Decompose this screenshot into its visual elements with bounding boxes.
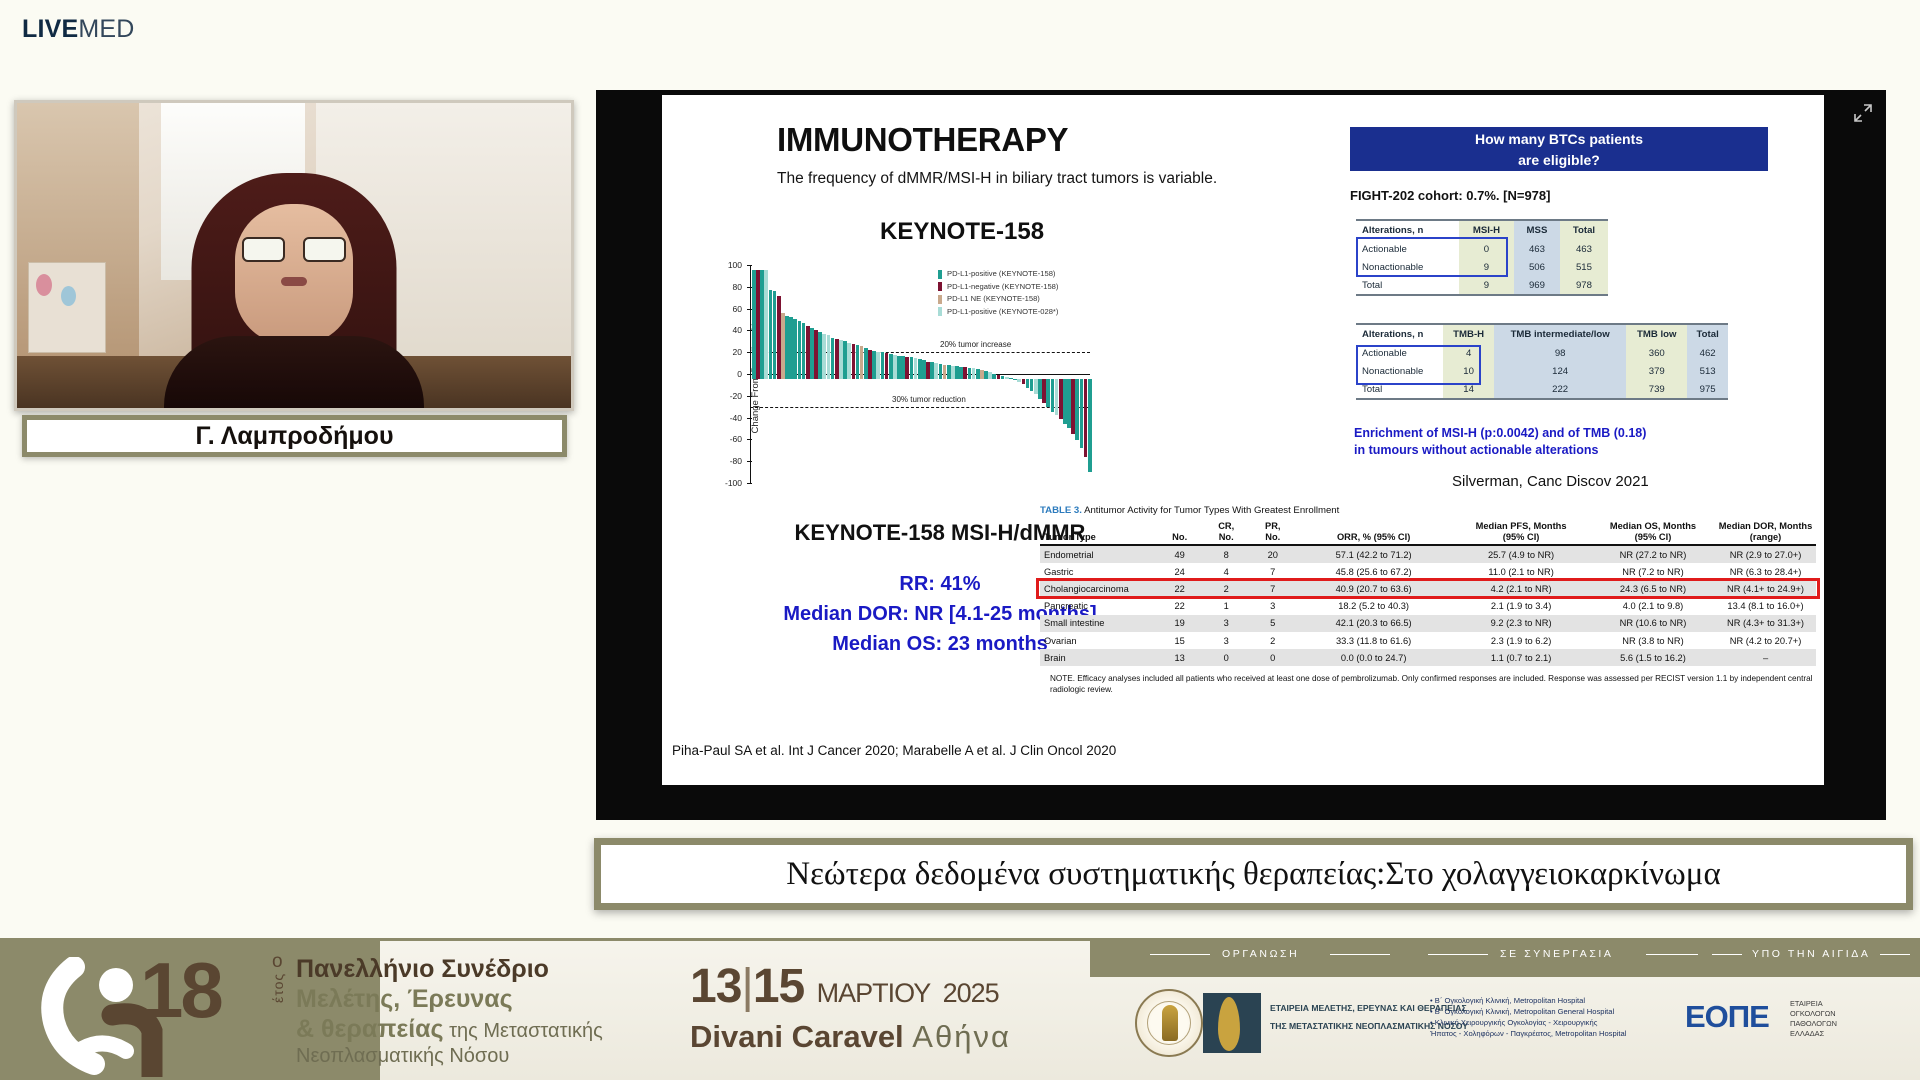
slide-content: IMMUNOTHERAPY The frequency of dMMR/MSI-… bbox=[662, 95, 1824, 785]
chart-bar bbox=[789, 317, 793, 379]
table-cell: 969 bbox=[1514, 276, 1560, 295]
chart-bar bbox=[926, 362, 930, 379]
banner-line-2: are eligible? bbox=[1350, 150, 1768, 171]
chart-bar bbox=[860, 346, 864, 379]
table-cell: 4.2 (2.1 to NR) bbox=[1451, 580, 1591, 597]
congress-line-2: Μελέτης, Έρευνας bbox=[296, 985, 513, 1014]
chart-bar bbox=[910, 357, 914, 379]
table-row: Ovarian153233.3 (11.8 to 61.6)2.3 (1.9 t… bbox=[1040, 632, 1816, 649]
speaker-name-plate: Γ. Λαμπροδήμου bbox=[22, 415, 567, 457]
table-cell: 98 bbox=[1494, 344, 1626, 362]
coop-line-2: • Β΄ Ογκολογική Κλινική, Metropolitan Ge… bbox=[1430, 1006, 1626, 1017]
table-header-cell: TMB intermediate/low bbox=[1494, 324, 1626, 344]
chart-bar bbox=[856, 345, 860, 379]
table-cell: NR (2.9 to 27.0+) bbox=[1715, 545, 1816, 563]
chart-bar bbox=[1013, 379, 1017, 380]
logo-bold: LIVE bbox=[22, 15, 78, 43]
chart-bar bbox=[1005, 377, 1009, 379]
table-cell: 2 bbox=[1249, 632, 1296, 649]
chart-y-tick: -80 bbox=[712, 456, 742, 466]
legend-swatch bbox=[938, 270, 942, 279]
table-cell: 57.1 (42.2 to 71.2) bbox=[1296, 545, 1451, 563]
chart-bar bbox=[976, 369, 980, 379]
chart-legend-item: PD-L1 NE (KEYNOTE-158) bbox=[938, 293, 1058, 306]
congress-line-3-bold: & θεραπείας bbox=[296, 1015, 444, 1043]
chart-bar bbox=[1046, 379, 1050, 407]
chart-bar bbox=[992, 374, 996, 379]
speaker-video[interactable] bbox=[14, 100, 574, 411]
table-cell: Ovarian bbox=[1040, 632, 1156, 649]
table-cell: 40.9 (20.7 to 63.6) bbox=[1296, 580, 1451, 597]
chart-bar bbox=[914, 358, 918, 379]
chart-y-tick: 0 bbox=[712, 369, 742, 379]
cohort-text: FIGHT-202 cohort: 0.7%. [N=978] bbox=[1350, 188, 1550, 203]
expand-icon[interactable] bbox=[1854, 104, 1872, 122]
chart-bar bbox=[1001, 376, 1005, 379]
table-cell: 2 bbox=[1203, 580, 1250, 597]
table-cell: 463 bbox=[1514, 240, 1560, 258]
table-cell: 3 bbox=[1249, 598, 1296, 615]
table-cell: NR (10.6 to NR) bbox=[1591, 615, 1715, 632]
table3-block: TABLE 3. Antitumor Activity for Tumor Ty… bbox=[1040, 505, 1816, 695]
chart-bar bbox=[785, 316, 789, 379]
band-auspices: ΥΠΟ ΤΗΝ ΑΙΓΙΔΑ bbox=[1752, 948, 1870, 960]
slide-subtitle: The frequency of dMMR/MSI-H in biliary t… bbox=[777, 170, 1217, 188]
msi-highlight-box bbox=[1356, 237, 1508, 277]
table-header-cell: TMB low bbox=[1626, 324, 1687, 344]
congress-line-3: & θεραπείας της Μεταστατικής bbox=[296, 1015, 603, 1044]
chart-bar bbox=[951, 366, 955, 379]
eope-subtitle: ΕΤΑΙΡΕΙΑ ΟΓΚΟΛΟΓΩΝ ΠΑΘΟΛΟΓΩΝ ΕΛΛΑΔΑΣ bbox=[1790, 999, 1837, 1039]
coop-line-1: • Β΄ Ογκολογική Κλινική, Metropolitan Ho… bbox=[1430, 995, 1626, 1006]
table-cell: 515 bbox=[1560, 258, 1608, 276]
chart-bar bbox=[1017, 379, 1021, 382]
table-header-cell: Alterations, n bbox=[1356, 324, 1443, 344]
chart-bar bbox=[835, 339, 839, 379]
chart-bar bbox=[802, 323, 806, 379]
table-cell: 7 bbox=[1249, 563, 1296, 580]
venue-name: Divani Caravel bbox=[690, 1019, 904, 1054]
chart-bar bbox=[1009, 378, 1013, 379]
slide-stage: IMMUNOTHERAPY The frequency of dMMR/MSI-… bbox=[596, 90, 1886, 820]
table-cell: 49 bbox=[1156, 545, 1203, 563]
table-cell: 13 bbox=[1156, 649, 1203, 666]
chart-bar bbox=[839, 340, 843, 379]
legend-label: PD-L1-negative (KEYNOTE-158) bbox=[947, 281, 1058, 294]
edition-word: έτος bbox=[270, 973, 286, 1003]
chart-bar bbox=[822, 334, 826, 379]
table-cell: 18.2 (5.2 to 40.3) bbox=[1296, 598, 1451, 615]
chart-bar bbox=[764, 270, 768, 379]
speaker-mouth bbox=[281, 277, 307, 286]
chart-bar bbox=[893, 355, 897, 379]
table-cell: Pancreatic bbox=[1040, 598, 1156, 615]
table-cell: Small intestine bbox=[1040, 615, 1156, 632]
table-row: Cholangiocarcinoma222740.9 (20.7 to 63.6… bbox=[1040, 580, 1816, 597]
chart-bar bbox=[939, 364, 943, 379]
table-row: Endometrial4982057.1 (42.2 to 71.2)25.7 … bbox=[1040, 545, 1816, 563]
table-header-cell: Total bbox=[1687, 324, 1728, 344]
chart-legend: PD-L1-positive (KEYNOTE-158)PD-L1-negati… bbox=[938, 268, 1058, 318]
table-cell: 22 bbox=[1156, 580, 1203, 597]
eope-line-4: ΕΛΛΑΔΑΣ bbox=[1790, 1029, 1837, 1039]
table3-note: NOTE. Efficacy analyses included all pat… bbox=[1040, 673, 1816, 695]
table3-header-cell: Tumor Type bbox=[1040, 520, 1156, 545]
chart-y-tick: -20 bbox=[712, 391, 742, 401]
chart-y-tick: -100 bbox=[712, 478, 742, 488]
table-cell: 8 bbox=[1203, 545, 1250, 563]
legend-label: PD-L1 NE (KEYNOTE-158) bbox=[947, 293, 1040, 306]
chart-bar bbox=[901, 356, 905, 379]
chart-bar bbox=[1030, 379, 1034, 391]
table-row: Brain13000.0 (0.0 to 24.7)1.1 (0.7 to 2.… bbox=[1040, 649, 1816, 666]
speaker-name: Γ. Λαμπροδήμου bbox=[195, 422, 393, 451]
chart-bar bbox=[781, 313, 785, 379]
table3-header-cell: PR,No. bbox=[1249, 520, 1296, 545]
table-cell: 379 bbox=[1626, 362, 1687, 380]
eope-line-2: ΟΓΚΟΛΟΓΩΝ bbox=[1790, 1009, 1837, 1019]
table-cell: 19 bbox=[1156, 615, 1203, 632]
chart-bar bbox=[997, 375, 1001, 379]
chart-bar bbox=[968, 368, 972, 379]
chart-y-tick: 100 bbox=[712, 260, 742, 270]
chart-bar bbox=[1026, 379, 1030, 388]
table-cell: Brain bbox=[1040, 649, 1156, 666]
chart-bar bbox=[889, 354, 893, 379]
table3-header-cell: Median OS, Months(95% CI) bbox=[1591, 520, 1715, 545]
date-separator: | bbox=[741, 960, 752, 1013]
waterfall-chart: Change From Baseline, % 100806040200-20-… bbox=[702, 260, 1142, 505]
wheat-icon bbox=[1162, 1005, 1178, 1041]
chart-bar bbox=[1088, 379, 1092, 472]
edition-number: 18 bbox=[140, 951, 221, 1029]
coop-line-3: • Κλινική Χειρουργικής Ογκολογίας - Χειρ… bbox=[1430, 1017, 1626, 1028]
chart-bar bbox=[1059, 379, 1063, 419]
congress-line-4: Νεοπλασματικής Νόσου bbox=[296, 1045, 509, 1068]
chart-bar bbox=[984, 371, 988, 379]
chart-bar bbox=[872, 351, 876, 379]
date-month: ΜΑΡΤΙΟΥ bbox=[817, 978, 931, 1008]
legend-swatch bbox=[938, 295, 942, 304]
table-row: Total9969978 bbox=[1356, 276, 1608, 295]
chart-bar bbox=[1055, 379, 1059, 415]
congress-dates: 13|15 ΜΑΡΤΙΟΥ 2025 bbox=[690, 959, 999, 1014]
table-cell: Gastric bbox=[1040, 563, 1156, 580]
table-cell: 24 bbox=[1156, 563, 1203, 580]
congress-line-3-rest: της Μεταστατικής bbox=[444, 1020, 603, 1042]
chart-bar bbox=[756, 270, 760, 379]
table-cell: 42.1 (20.3 to 66.5) bbox=[1296, 615, 1451, 632]
band-cooperation: ΣΕ ΣΥΝΕΡΓΑΣΙΑ bbox=[1500, 948, 1614, 960]
table-cell: 222 bbox=[1494, 380, 1626, 399]
table-cell: NR (3.8 to NR) bbox=[1591, 632, 1715, 649]
congress-line-1: Πανελλήνιο Συνέδριο bbox=[296, 955, 549, 984]
table-cell: 1.1 (0.7 to 2.1) bbox=[1451, 649, 1591, 666]
table-cell: 24.3 (6.5 to NR) bbox=[1591, 580, 1715, 597]
eope-line-3: ΠΑΘΟΛΟΓΩΝ bbox=[1790, 1019, 1837, 1029]
table-cell: 4 bbox=[1203, 563, 1250, 580]
chart-bar bbox=[843, 341, 847, 379]
date-to: 15 bbox=[753, 960, 804, 1013]
conference-footer: 18 o έτος Πανελλήνιο Συνέδριο Μελέτης, Έ… bbox=[0, 938, 1920, 1080]
slide-citation: Piha-Paul SA et al. Int J Cancer 2020; M… bbox=[672, 743, 1116, 758]
speaker-body bbox=[164, 336, 424, 408]
table-header-cell: Total bbox=[1560, 220, 1608, 240]
logo-light: MED bbox=[78, 15, 134, 43]
table-cell: NR (6.3 to 28.4+) bbox=[1715, 563, 1816, 580]
table-cell: 25.7 (4.9 to NR) bbox=[1451, 545, 1591, 563]
session-title-band: Νεώτερα δεδομένα συστηματικής θεραπείας:… bbox=[594, 838, 1913, 910]
chart-bar bbox=[943, 365, 947, 379]
table-cell: 2.1 (1.9 to 3.4) bbox=[1451, 598, 1591, 615]
chart-bar bbox=[1063, 379, 1067, 424]
chart-y-tick: -60 bbox=[712, 434, 742, 444]
chart-bar bbox=[922, 360, 926, 379]
chart-bar bbox=[897, 356, 901, 379]
coop-line-4: Ήπατος - Χοληφόρων - Παγκρέατος, Metropo… bbox=[1430, 1028, 1626, 1039]
chart-bar bbox=[963, 367, 967, 379]
table-cell: 3 bbox=[1203, 632, 1250, 649]
chart-y-tick: 40 bbox=[712, 325, 742, 335]
eope-line-1: ΕΤΑΙΡΕΙΑ bbox=[1790, 999, 1837, 1009]
chart-bar bbox=[852, 344, 856, 379]
table-cell: 22 bbox=[1156, 598, 1203, 615]
chart-bar bbox=[1022, 379, 1026, 384]
banner-line-1: How many BTCs patients bbox=[1350, 129, 1768, 150]
table-cell: 5 bbox=[1249, 615, 1296, 632]
table-header-cell: TMB-H bbox=[1443, 324, 1494, 344]
table-cell: 513 bbox=[1687, 362, 1728, 380]
chart-y-tick: 80 bbox=[712, 282, 742, 292]
chart-bar bbox=[955, 366, 959, 379]
keynote-heading: KEYNOTE-158 bbox=[880, 218, 1044, 246]
chart-bar bbox=[810, 328, 814, 379]
chart-bar bbox=[777, 296, 781, 379]
tmb-highlight-box bbox=[1356, 345, 1481, 385]
chart-bar bbox=[847, 343, 851, 379]
chart-bar bbox=[1051, 379, 1055, 412]
table-cell: Endometrial bbox=[1040, 545, 1156, 563]
chart-bar bbox=[988, 372, 992, 379]
table3: Tumor TypeNo.CR,No.PR,No.ORR, % (95% CI)… bbox=[1040, 520, 1816, 666]
table-cell: 0.0 (0.0 to 24.7) bbox=[1296, 649, 1451, 666]
slide-title: IMMUNOTHERAPY bbox=[777, 121, 1068, 159]
table-cell: Total bbox=[1356, 276, 1459, 295]
chart-legend-item: PD-L1-positive (KEYNOTE-028*) bbox=[938, 306, 1058, 319]
table3-caption: TABLE 3. Antitumor Activity for Tumor Ty… bbox=[1040, 505, 1816, 516]
table3-header-cell: No. bbox=[1156, 520, 1203, 545]
chart-legend-item: PD-L1-positive (KEYNOTE-158) bbox=[938, 268, 1058, 281]
table-cell: 7 bbox=[1249, 580, 1296, 597]
table-row: Small intestine193542.1 (20.3 to 66.5)9.… bbox=[1040, 615, 1816, 632]
table-cell: NR (4.3+ to 31.3+) bbox=[1715, 615, 1816, 632]
chart-bar bbox=[881, 352, 885, 379]
table-cell: 506 bbox=[1514, 258, 1560, 276]
chart-bar bbox=[793, 319, 797, 379]
table-cell: 5.6 (1.5 to 16.2) bbox=[1591, 649, 1715, 666]
chart-legend-item: PD-L1-negative (KEYNOTE-158) bbox=[938, 281, 1058, 294]
cooperation-list: • Β΄ Ογκολογική Κλινική, Metropolitan Ho… bbox=[1430, 995, 1626, 1039]
edition-ordinal: o bbox=[272, 951, 283, 973]
table-cell: 4.0 (2.1 to 9.8) bbox=[1591, 598, 1715, 615]
chart-bar bbox=[818, 332, 822, 379]
chart-y-tick: 20 bbox=[712, 347, 742, 357]
table-cell: NR (4.2 to 20.7+) bbox=[1715, 632, 1816, 649]
chart-bar bbox=[876, 352, 880, 379]
presentation-viewer: LIVEMED Γ. Λαμπροδήμου IMMUNOTHERAPY Th bbox=[0, 0, 1920, 1080]
table-cell: 739 bbox=[1626, 380, 1687, 399]
table-cell: 33.3 (11.8 to 61.6) bbox=[1296, 632, 1451, 649]
chart-bar bbox=[1071, 379, 1075, 434]
chart-bar bbox=[1034, 379, 1038, 394]
panel-source: Silverman, Canc Discov 2021 bbox=[1452, 473, 1649, 490]
table3-header-cell: Median DOR, Months(range) bbox=[1715, 520, 1816, 545]
chart-bar bbox=[806, 326, 810, 379]
chart-bar bbox=[980, 370, 984, 379]
chart-bar bbox=[918, 359, 922, 379]
table-cell: 3 bbox=[1203, 615, 1250, 632]
table-cell: 9 bbox=[1459, 276, 1514, 295]
eligibility-banner: How many BTCs patients are eligible? bbox=[1350, 127, 1768, 171]
chart-bar bbox=[1038, 379, 1042, 399]
chart-bar bbox=[934, 363, 938, 379]
table3-caption-rest: Antitumor Activity for Tumor Types With … bbox=[1082, 505, 1339, 516]
livemed-logo: LIVEMED bbox=[22, 15, 135, 44]
chart-bar bbox=[1080, 379, 1084, 448]
table-cell: Cholangiocarcinoma bbox=[1040, 580, 1156, 597]
chart-bar bbox=[864, 348, 868, 379]
table3-header-cell: Median PFS, Months(95% CI) bbox=[1451, 520, 1591, 545]
table-cell: 13.4 (8.1 to 16.0+) bbox=[1715, 598, 1816, 615]
table-cell: 360 bbox=[1626, 344, 1687, 362]
table3-header-cell: ORR, % (95% CI) bbox=[1296, 520, 1451, 545]
chart-bar bbox=[972, 368, 976, 379]
session-title: Νεώτερα δεδομένα συστηματικής θεραπείας:… bbox=[786, 856, 1721, 893]
chart-bar bbox=[752, 270, 756, 379]
chart-bar bbox=[798, 321, 802, 379]
table-row: Pancreatic221318.2 (5.2 to 40.3)2.1 (1.9… bbox=[1040, 598, 1816, 615]
enrichment-line-1: Enrichment of MSI-H (p:0.0042) and of TM… bbox=[1354, 425, 1646, 442]
legend-label: PD-L1-positive (KEYNOTE-028*) bbox=[947, 306, 1058, 319]
table-cell: 0 bbox=[1249, 649, 1296, 666]
table-header-cell: MSS bbox=[1514, 220, 1560, 240]
enrichment-note: Enrichment of MSI-H (p:0.0042) and of TM… bbox=[1354, 425, 1646, 459]
venue-city: Αθήνα bbox=[912, 1019, 1011, 1054]
chart-bar bbox=[827, 335, 831, 379]
table-cell: 0 bbox=[1203, 649, 1250, 666]
table-row: Gastric244745.8 (25.6 to 67.2)11.0 (2.1 … bbox=[1040, 563, 1816, 580]
eope-logo: ΕΟΠΕ bbox=[1685, 999, 1769, 1035]
chart-bar bbox=[905, 357, 909, 379]
table-cell: 463 bbox=[1560, 240, 1608, 258]
date-from: 13 bbox=[690, 960, 741, 1013]
chart-bar bbox=[760, 270, 764, 379]
band-organization: ΟΡΓΑΝΩΣΗ bbox=[1222, 948, 1299, 960]
table-cell: 11.0 (2.1 to NR) bbox=[1451, 563, 1591, 580]
chart-bar bbox=[1084, 379, 1088, 457]
table-cell: 1 bbox=[1203, 598, 1250, 615]
enrichment-line-2: in tumours without actionable alteration… bbox=[1354, 442, 1646, 459]
chart-y-tick: 60 bbox=[712, 304, 742, 314]
legend-swatch bbox=[938, 282, 942, 291]
chart-bar bbox=[1075, 379, 1079, 440]
chart-bar bbox=[930, 362, 934, 379]
table-cell: 20 bbox=[1249, 545, 1296, 563]
chart-bar bbox=[885, 353, 889, 379]
chart-bar bbox=[959, 367, 963, 379]
video-canvas bbox=[17, 103, 571, 408]
date-year: 2025 bbox=[943, 978, 999, 1008]
table-cell: 124 bbox=[1494, 362, 1626, 380]
chart-bar bbox=[773, 291, 777, 379]
table-cell: 9.2 (2.3 to NR) bbox=[1451, 615, 1591, 632]
chart-bar bbox=[868, 350, 872, 379]
table3-caption-bold: TABLE 3. bbox=[1040, 505, 1082, 516]
table3-header-cell: CR,No. bbox=[1203, 520, 1250, 545]
speaker-glasses bbox=[242, 237, 346, 262]
chart-bar bbox=[1067, 379, 1071, 428]
table-cell: NR (27.2 to NR) bbox=[1591, 545, 1715, 563]
legend-label: PD-L1-positive (KEYNOTE-158) bbox=[947, 268, 1055, 281]
table-cell: 975 bbox=[1687, 380, 1728, 399]
table-cell: 45.8 (25.6 to 67.2) bbox=[1296, 563, 1451, 580]
table-cell: 2.3 (1.9 to 6.2) bbox=[1451, 632, 1591, 649]
chart-bar bbox=[769, 290, 773, 379]
chart-bar bbox=[831, 338, 835, 379]
chart-bar bbox=[814, 330, 818, 379]
table-cell: NR (4.1+ to 24.9+) bbox=[1715, 580, 1816, 597]
venue: Divani Caravel Αθήνα bbox=[690, 1019, 1011, 1055]
speaker-face bbox=[235, 204, 353, 344]
table-cell: NR (7.2 to NR) bbox=[1591, 563, 1715, 580]
chart-bar bbox=[947, 365, 951, 379]
legend-swatch bbox=[938, 307, 942, 316]
chart-bar bbox=[1042, 379, 1046, 403]
chart-y-tick: -40 bbox=[712, 413, 742, 423]
table-cell: 978 bbox=[1560, 276, 1608, 295]
table-cell: 15 bbox=[1156, 632, 1203, 649]
table-cell: – bbox=[1715, 649, 1816, 666]
table-cell: 462 bbox=[1687, 344, 1728, 362]
